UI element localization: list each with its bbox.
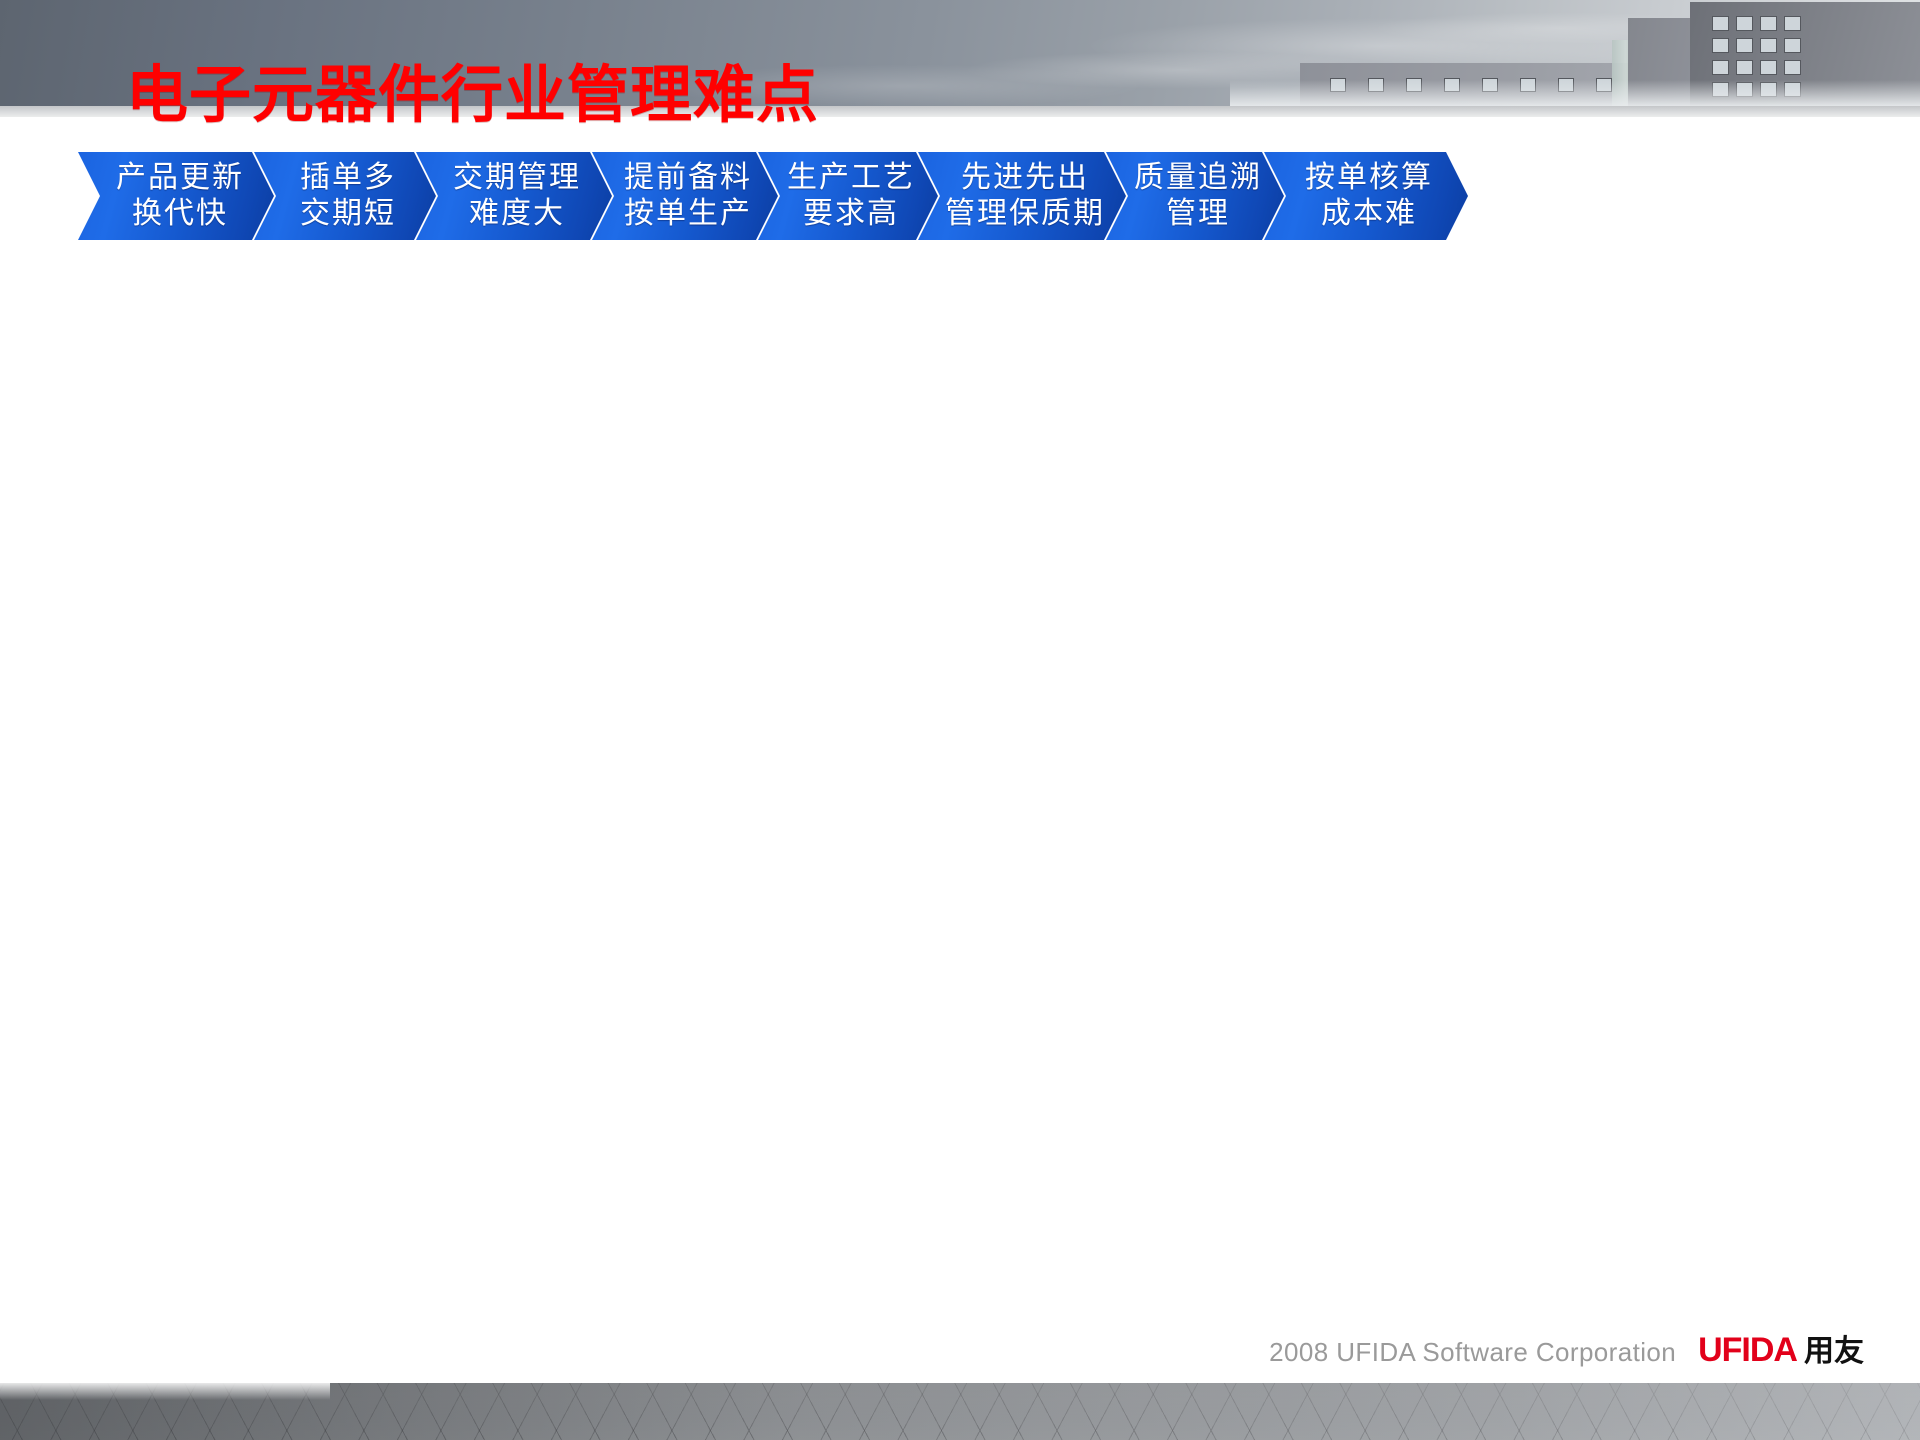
chevron-item-5-line1: 生产工艺 — [787, 159, 915, 197]
chevron-item-8-line2: 成本难 — [1321, 195, 1417, 233]
window-pane — [1760, 16, 1777, 31]
ufida-logo-cjk: 用友 — [1804, 1326, 1864, 1370]
chevron-process-band: 产品更新 换代快 插单多 交期短 交期管理 难度大 提前备料 按单生产 生产工艺… — [78, 152, 1448, 240]
window-pane — [1406, 78, 1422, 92]
chevron-item-8-line1: 按单核算 — [1305, 159, 1433, 197]
chevron-item-4[interactable]: 提前备料 按单生产 — [592, 152, 778, 240]
chevron-item-7-line1: 质量追溯 — [1134, 159, 1262, 197]
chevron-item-5-line2: 要求高 — [803, 195, 899, 233]
chevron-item-3-line2: 难度大 — [469, 195, 565, 233]
chevron-item-2[interactable]: 插单多 交期短 — [254, 152, 436, 240]
window-pane — [1784, 60, 1801, 75]
window-pane — [1596, 78, 1612, 92]
ufida-logo-latin: UFIDA — [1698, 1331, 1797, 1370]
chevron-item-3[interactable]: 交期管理 难度大 — [416, 152, 612, 240]
window-pane — [1784, 82, 1801, 97]
chevron-item-2-line1: 插单多 — [300, 159, 396, 197]
window-pane — [1760, 38, 1777, 53]
chevron-item-7-line2: 管理 — [1166, 195, 1230, 233]
window-pane — [1368, 78, 1384, 92]
window-pane — [1482, 78, 1498, 92]
chevron-item-6-line1: 先进先出 — [961, 159, 1089, 197]
window-pane — [1784, 16, 1801, 31]
building-window-grid-main — [1712, 16, 1801, 97]
window-pane — [1330, 78, 1346, 92]
chevron-item-6[interactable]: 先进先出 管理保质期 — [918, 152, 1126, 240]
chevron-item-4-line1: 提前备料 — [624, 159, 752, 197]
window-pane — [1712, 60, 1729, 75]
window-pane — [1760, 82, 1777, 97]
chevron-item-1[interactable]: 产品更新 换代快 — [78, 152, 274, 240]
window-pane — [1736, 16, 1753, 31]
building-secondary-block — [1628, 18, 1694, 106]
footer-credit: 2008 UFIDA Software Corporation UFIDA 用友 — [1269, 1326, 1864, 1370]
chevron-item-8[interactable]: 按单核算 成本难 — [1264, 152, 1468, 240]
chevron-item-4-line2: 按单生产 — [624, 195, 752, 233]
window-pane — [1712, 38, 1729, 53]
copyright-text: 2008 UFIDA Software Corporation — [1269, 1337, 1676, 1368]
window-pane — [1520, 78, 1536, 92]
window-pane — [1736, 38, 1753, 53]
footer-fade-overlay — [0, 1380, 330, 1400]
chevron-item-6-line2: 管理保质期 — [945, 195, 1105, 233]
window-pane — [1736, 60, 1753, 75]
page-title: 电子元器件行业管理难点 — [126, 50, 1326, 140]
window-pane — [1712, 16, 1729, 31]
window-pane — [1760, 60, 1777, 75]
building-window-grid-low — [1330, 78, 1612, 92]
ufida-logo: UFIDA 用友 — [1698, 1326, 1864, 1370]
chevron-item-7[interactable]: 质量追溯 管理 — [1106, 152, 1284, 240]
chevron-item-1-line2: 换代快 — [132, 195, 228, 233]
chevron-item-5[interactable]: 生产工艺 要求高 — [758, 152, 938, 240]
window-pane — [1444, 78, 1460, 92]
window-pane — [1558, 78, 1574, 92]
slide-canvas: 电子元器件行业管理难点 产品更新 换代快 插单多 交期短 交期管理 难度大 提前… — [0, 0, 1920, 1440]
window-pane — [1784, 38, 1801, 53]
chevron-item-2-line2: 交期短 — [300, 195, 396, 233]
window-pane — [1712, 82, 1729, 97]
chevron-item-1-line1: 产品更新 — [116, 159, 244, 197]
chevron-item-3-line1: 交期管理 — [453, 159, 581, 197]
window-pane — [1736, 82, 1753, 97]
